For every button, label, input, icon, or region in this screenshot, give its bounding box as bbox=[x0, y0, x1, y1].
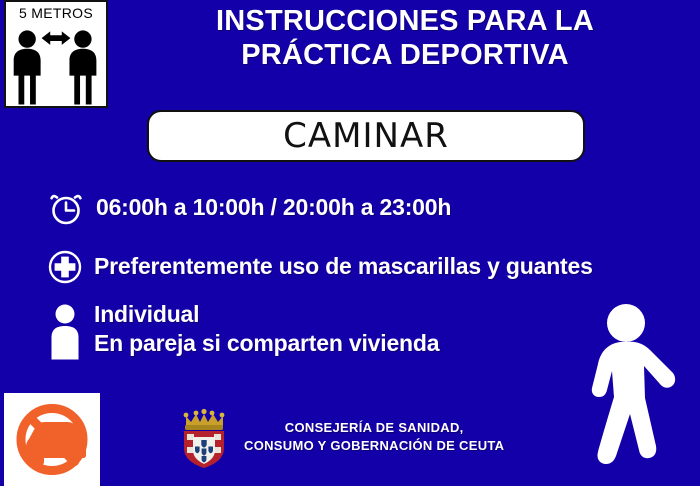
headline-line-1: INSTRUCCIONES PARA LA bbox=[216, 5, 594, 37]
single-person-icon bbox=[48, 302, 82, 360]
info-row-hours: 06:00h a 10:00h / 20:00h a 23:00h bbox=[48, 190, 451, 226]
activity-label: CAMINAR bbox=[283, 116, 449, 156]
footer-line-1: CONSEJERÍA DE SANIDAD, bbox=[244, 419, 504, 437]
footer-line-2: CONSUMO Y GOBERNACIÓN DE CEUTA bbox=[244, 437, 504, 455]
info-row-mask: Preferentemente uso de mascarillas y gua… bbox=[48, 250, 593, 284]
poster-canvas: 5 METROS INSTRUCCIONES PARA LA PRÁCTICA … bbox=[0, 0, 700, 486]
ceuta-coat-of-arms bbox=[176, 406, 232, 468]
footer-text: CONSEJERÍA DE SANIDAD, CONSUMO Y GOBERNA… bbox=[244, 419, 504, 454]
distance-panel: 5 METROS bbox=[4, 0, 108, 108]
no-car-panel bbox=[4, 393, 100, 486]
distance-label: 5 METROS bbox=[6, 5, 106, 21]
info-text-hours: 06:00h a 10:00h / 20:00h a 23:00h bbox=[96, 193, 451, 222]
info-text-group-line-2: En pareja si comparten vivienda bbox=[94, 330, 439, 356]
medical-cross-circle-icon bbox=[48, 250, 82, 284]
headline-line-2: PRÁCTICA DEPORTIVA bbox=[120, 38, 690, 72]
info-row-group: Individual En pareja si comparten vivien… bbox=[48, 302, 439, 360]
footer: CONSEJERÍA DE SANIDAD, CONSUMO Y GOBERNA… bbox=[176, 406, 504, 468]
info-text-group-line-1: Individual bbox=[94, 301, 199, 327]
alarm-clock-icon bbox=[48, 190, 84, 226]
activity-box: CAMINAR bbox=[147, 110, 585, 162]
info-text-mask: Preferentemente uso de mascarillas y gua… bbox=[94, 252, 593, 281]
walking-person-icon bbox=[554, 296, 694, 486]
two-people-distance-icon bbox=[6, 24, 106, 108]
info-text-group: Individual En pareja si comparten vivien… bbox=[94, 300, 439, 358]
no-car-icon bbox=[4, 393, 100, 486]
page-title: INSTRUCCIONES PARA LA PRÁCTICA DEPORTIVA bbox=[120, 4, 690, 72]
